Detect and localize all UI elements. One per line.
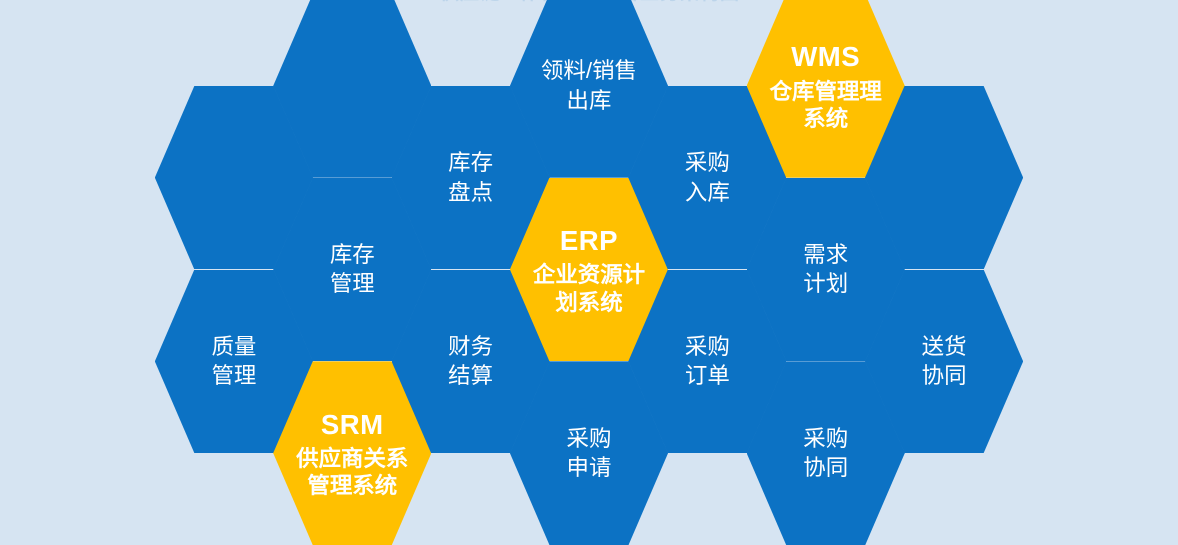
- hex-label: 领料/销售出库: [510, 56, 668, 115]
- hex-label: 采购入库: [628, 148, 786, 207]
- hex-label: 需求计划: [747, 240, 905, 299]
- hex-label: WMS 仓库管理理系统: [747, 39, 905, 132]
- hex-label: ERP 企业资源计划系统: [510, 223, 668, 316]
- system-fullname: 仓库管理理系统: [763, 78, 889, 133]
- hex-label: 采购协同: [747, 424, 905, 483]
- hex-label: 库存管理: [273, 240, 431, 299]
- system-acronym: ERP: [526, 223, 652, 259]
- hex-label: 库存盘点: [392, 148, 550, 207]
- hex-label: 质量管理: [155, 332, 313, 391]
- hexagon-diagram-canvas: 供应链一体化管理平台业务架构图 质量管理 库存管理 SRM 供应商关系管理系统 …: [0, 0, 1178, 511]
- hex-label: SRM 供应商关系管理系统: [273, 407, 431, 500]
- hex-label: 采购申请: [510, 424, 668, 483]
- hex-label: 财务结算: [392, 332, 550, 391]
- system-fullname: 供应商关系管理系统: [290, 445, 416, 500]
- hex-label: 送货协同: [865, 332, 1023, 391]
- hex-label: 采购订单: [628, 332, 786, 391]
- system-fullname: 企业资源计划系统: [526, 261, 652, 316]
- system-acronym: WMS: [763, 39, 889, 75]
- system-acronym: SRM: [290, 407, 416, 443]
